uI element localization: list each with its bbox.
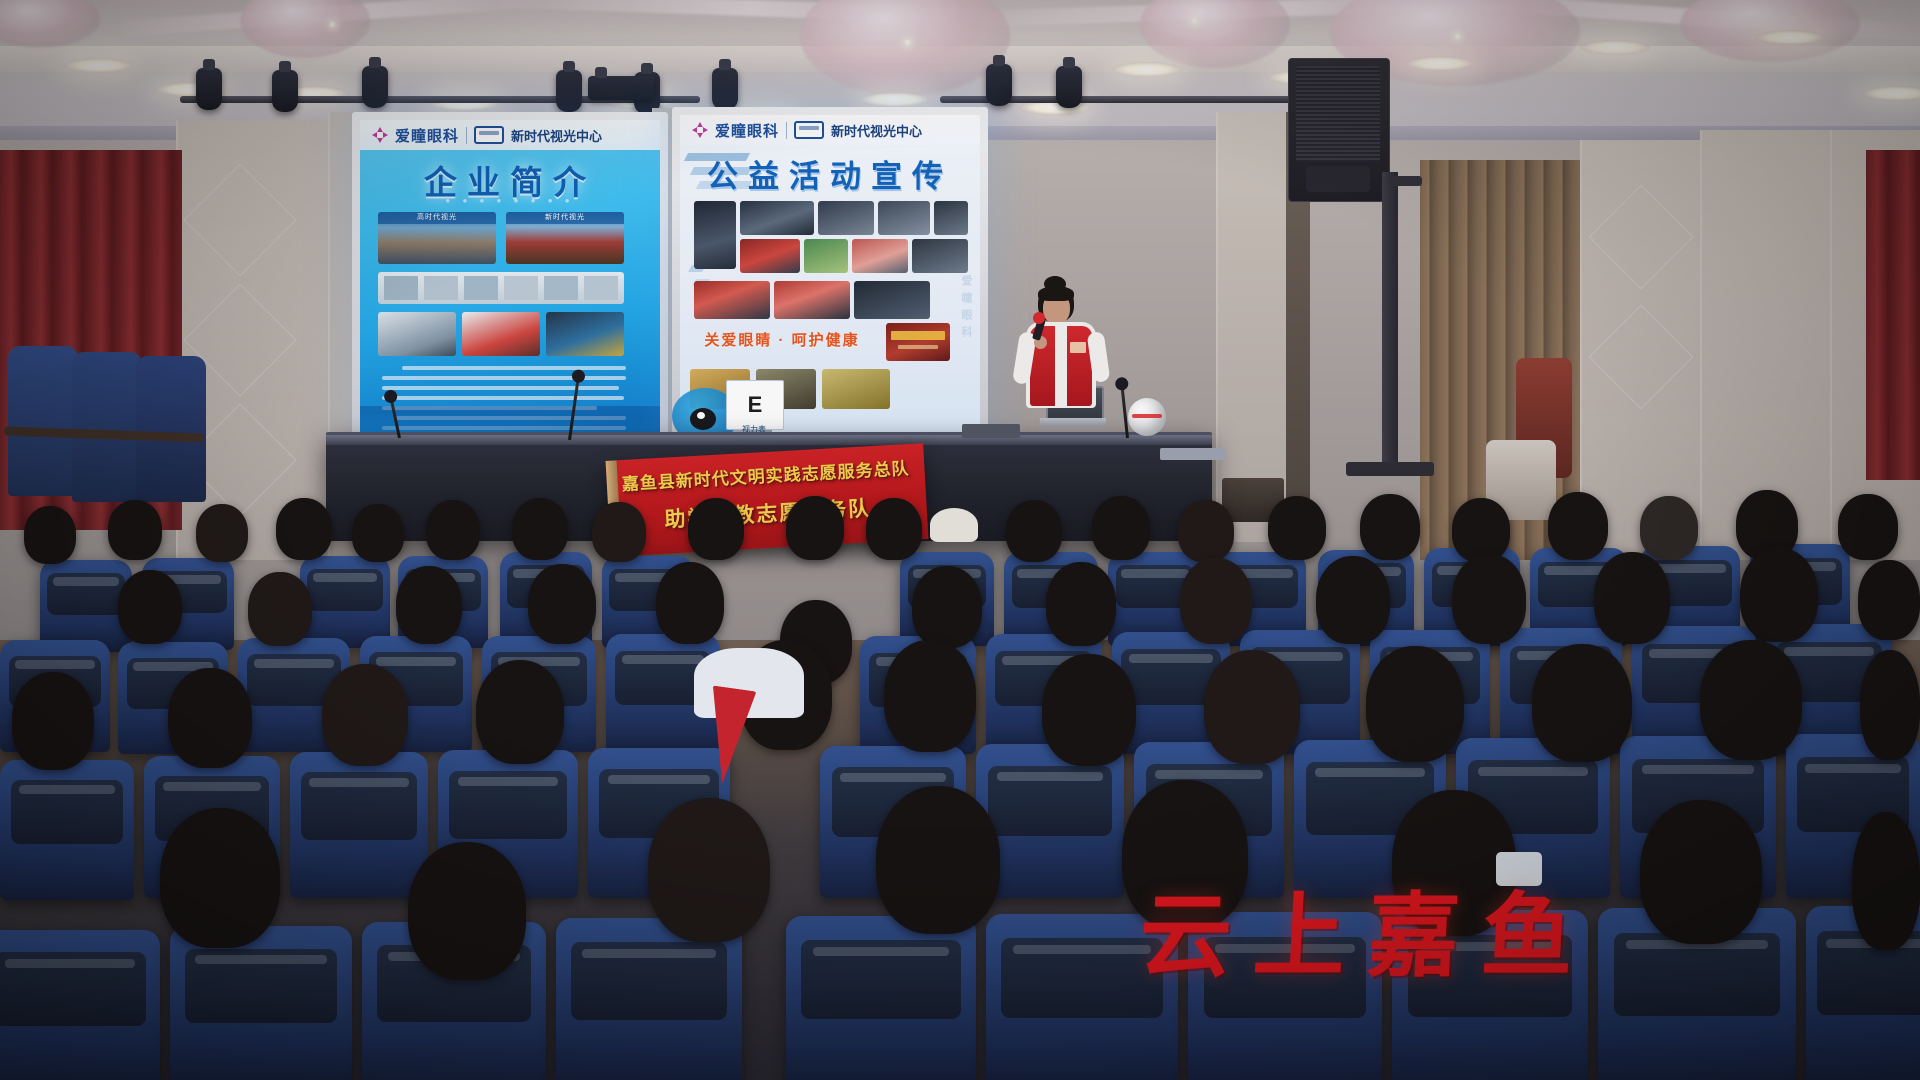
audience-head: [1268, 496, 1326, 560]
aitong-logo-icon: [372, 127, 388, 143]
slide-right-brand: 爱瞳眼科: [715, 120, 779, 141]
slide-photo: [912, 239, 968, 273]
audience-white-cap: [930, 508, 978, 542]
banner-line-1: 嘉鱼县新时代文明实践志愿服务总队: [606, 453, 925, 496]
brand-divider: [466, 127, 467, 144]
audience-head: [912, 566, 982, 648]
slide-photo: 新时代视光: [506, 212, 624, 264]
downlight: [1405, 56, 1475, 71]
eye-chart-card: E: [726, 380, 784, 430]
audience-head: [408, 842, 526, 980]
audience-head: [160, 808, 280, 948]
strip-thumb: [424, 276, 458, 300]
audience-head: [1204, 650, 1300, 764]
audience-head: [1594, 552, 1670, 644]
microphone-head: [1033, 312, 1045, 324]
sparkle: [1192, 18, 1197, 23]
slide-right: 爱瞳眼科 新时代视光中心 公益活动宣传: [680, 115, 980, 435]
slide-left-subbrand: 新时代视光中心: [511, 126, 602, 145]
volleyball: [1128, 398, 1166, 436]
audience-head: [476, 660, 564, 764]
spotlight: [196, 68, 222, 110]
slide-photo-strip: [378, 272, 624, 304]
strip-thumb: [464, 276, 498, 300]
presenter-vest-logo: [1070, 342, 1086, 353]
audience-head: [1700, 640, 1802, 760]
optical-center-icon: [794, 121, 824, 139]
brand-divider: [786, 122, 787, 139]
slide-right-slogan: 关爱眼睛 · 呵护健康: [680, 329, 884, 350]
audience-head: [1178, 500, 1234, 562]
optical-center-icon: [474, 126, 504, 144]
side-chair: [72, 352, 142, 502]
audience-head: [528, 564, 596, 644]
audience-head: [592, 502, 646, 562]
seat: [300, 556, 390, 648]
audience-head: [12, 672, 94, 770]
slide-photo: [878, 201, 930, 235]
seat: [290, 752, 428, 898]
slide-photo: [852, 239, 908, 273]
audience-head: [648, 798, 770, 942]
slide-left-header: 爱瞳眼科 新时代视光中心: [360, 120, 660, 150]
slide-photo: [694, 281, 770, 319]
slide-photo-label: 新时代视光: [506, 212, 624, 224]
slide-left-dotrow: ● ● ● ● ● ● ● ●: [360, 196, 660, 205]
audience-head: [512, 498, 568, 560]
slide-photo: [818, 201, 874, 235]
audience-head: [786, 496, 844, 560]
seat: [0, 930, 160, 1080]
pa-speaker-grill: [1296, 66, 1380, 162]
seat: [556, 918, 742, 1080]
table-item-document: [1160, 448, 1226, 460]
spotlight: [1056, 66, 1082, 108]
presenter-hair-front: [1038, 286, 1074, 301]
pa-speaker-stand: [1382, 172, 1398, 468]
downlight: [1580, 40, 1650, 55]
slide-right-sidemark: 爱瞳眼科: [958, 275, 974, 343]
strip-thumb: [584, 276, 618, 300]
audience-head: [1838, 494, 1898, 560]
presenter: [1008, 280, 1120, 440]
audience-head: [396, 566, 462, 644]
side-chair: [136, 356, 206, 502]
audience-head: [1640, 800, 1762, 944]
watermark-yunshang-jiayu: 云上嘉鱼: [1137, 862, 1600, 995]
award-plaque-text: [891, 331, 945, 340]
audience-head: [1860, 650, 1920, 760]
audience-head: [1852, 812, 1920, 950]
audience-head: [1360, 494, 1420, 560]
spotlight: [986, 64, 1012, 106]
slide-photo: [854, 281, 930, 319]
slide-photo: [378, 312, 456, 356]
pa-speaker-base: [1346, 462, 1434, 476]
presenter-vest-opening: [1055, 326, 1067, 406]
audience-head: [1006, 500, 1062, 562]
spotlight: [712, 68, 738, 110]
eye-logo-pupil: [690, 408, 716, 430]
audience-head: [1042, 654, 1136, 766]
audience-head: [248, 572, 312, 646]
spotlight: [556, 70, 582, 112]
audience-head: [1046, 562, 1116, 646]
audience-head: [1452, 554, 1526, 644]
slide-photo: [774, 281, 850, 319]
downlight: [1755, 30, 1825, 45]
audience-head: [168, 668, 252, 768]
seat: [786, 916, 976, 1080]
audience-head: [1452, 498, 1510, 562]
downlight: [64, 58, 134, 73]
side-chair: [8, 346, 78, 496]
audience-head: [1092, 496, 1150, 560]
strip-thumb: [384, 276, 418, 300]
slide-photo: 高时代视光: [378, 212, 496, 264]
audience-head: [1532, 644, 1632, 762]
audience-head: [1180, 558, 1252, 644]
audience-head: [1640, 496, 1698, 560]
downlight: [1112, 62, 1182, 77]
sparkle: [905, 40, 910, 45]
spotlight: [272, 70, 298, 112]
slide-left: 爱瞳眼科 新时代视光中心 企业简介 ● ● ● ● ● ● ● ● 高时代视光 …: [360, 120, 660, 440]
strip-thumb: [544, 276, 578, 300]
pa-speaker-woofer: [1306, 166, 1370, 192]
audience-head: [866, 498, 922, 560]
seat: [170, 926, 352, 1080]
audience-head: [884, 640, 976, 752]
eye-chart-letter: E: [748, 392, 763, 418]
audience-head: [876, 786, 1000, 934]
audience-head: [1858, 560, 1920, 640]
photo-scene: 爱瞳眼科 新时代视光中心 企业简介 ● ● ● ● ● ● ● ● 高时代视光 …: [0, 0, 1920, 1080]
audience-head: [688, 498, 744, 560]
audience-head: [322, 664, 408, 766]
slide-photo: [694, 201, 736, 269]
pa-speaker-arm: [1388, 176, 1422, 186]
slide-photo: [934, 201, 968, 235]
slide-left-brand: 爱瞳眼科: [395, 125, 459, 146]
slide-photo: [546, 312, 624, 356]
projector: [588, 76, 654, 100]
strip-thumb: [504, 276, 538, 300]
slide-photo-label: 高时代视光: [378, 212, 496, 224]
audience-head: [108, 500, 162, 560]
downlight: [860, 92, 930, 107]
window-curtain: [1866, 150, 1920, 480]
aitong-logo-icon: [692, 122, 708, 138]
audience-head: [1366, 646, 1464, 762]
slide-photo: [804, 239, 848, 273]
audience-head: [276, 498, 332, 560]
sparkle: [330, 22, 335, 27]
projection-screen-left: 爱瞳眼科 新时代视光中心 企业简介 ● ● ● ● ● ● ● ● 高时代视光 …: [360, 120, 660, 440]
audience-head: [24, 506, 76, 564]
slide-photo: [740, 201, 814, 235]
slide-right-subbrand: 新时代视光中心: [831, 121, 922, 140]
slide-certificate: [822, 369, 890, 409]
slide-photo: [740, 239, 800, 273]
audience-head: [1316, 556, 1390, 644]
seat: [0, 760, 134, 900]
slide-right-title: 公益活动宣传: [680, 151, 980, 196]
slide-right-header: 爱瞳眼科 新时代视光中心: [680, 115, 980, 145]
award-plaque-subtext: [898, 345, 938, 349]
spotlight: [362, 66, 388, 108]
audience-head: [196, 504, 248, 562]
audience-head: [426, 500, 480, 560]
slide-photo: [462, 312, 540, 356]
eye-logo-highlight: [697, 412, 705, 419]
slide-award-plaque: [886, 323, 950, 361]
audience-head: [1548, 492, 1608, 560]
audience-head: [1740, 548, 1818, 642]
projection-screen-right: 爱瞳眼科 新时代视光中心 公益活动宣传: [680, 115, 980, 435]
audience-head: [118, 570, 182, 644]
sparkle: [1455, 34, 1460, 39]
audience-head: [352, 504, 404, 562]
audience-head: [656, 562, 724, 644]
